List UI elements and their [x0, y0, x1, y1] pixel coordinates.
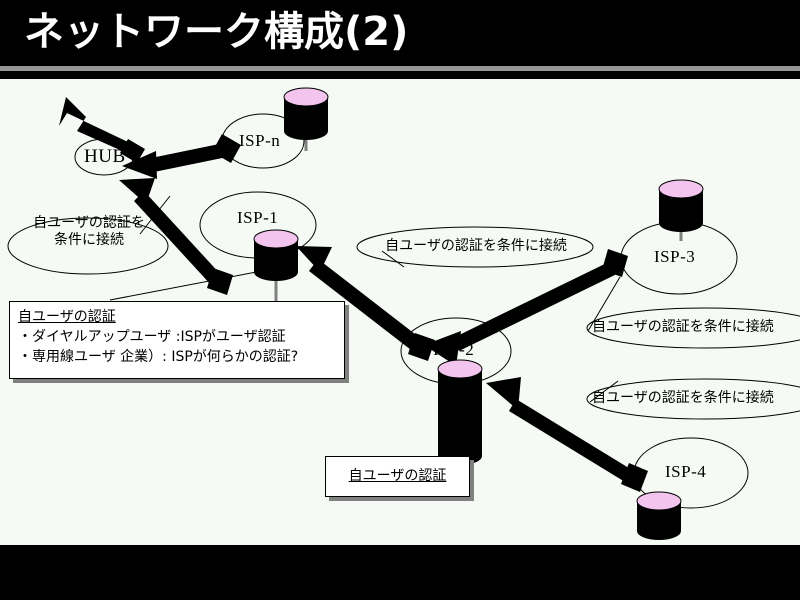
callout-left-line1: 自ユーザの認証を	[33, 215, 145, 231]
auth-simple-box-content: 自ユーザの認証	[326, 457, 469, 492]
bottom-band	[0, 545, 800, 600]
auth-detail-box-content: 自ユーザの認証 ・ダイヤルアップユーザ :ISPがユーザ認証 ・専用線ユーザ 企…	[10, 302, 344, 373]
callout-middle-text: 自ユーザの認証を条件に接続	[364, 238, 588, 255]
auth-detail-box: 自ユーザの認証 ・ダイヤルアップユーザ :ISPがユーザ認証 ・専用線ユーザ 企…	[9, 301, 345, 379]
callout-right-lower-text: 自ユーザの認証を条件に接続	[592, 390, 800, 407]
auth-detail-box-title: 自ユーザの認証	[18, 307, 336, 327]
slide: ネットワーク構成(2)	[0, 0, 800, 600]
node-label-isp2: ISP-2	[433, 340, 474, 360]
node-label-ispn: ISP-n	[239, 131, 280, 151]
node-label-hub: HUB	[84, 146, 126, 168]
page-title: ネットワーク構成(2)	[24, 6, 408, 58]
node-label-isp4: ISP-4	[665, 462, 706, 482]
server-ispn	[284, 88, 328, 151]
auth-detail-box-line-2: ・専用線ユーザ 企業）: ISPが何らかの認証?	[18, 347, 336, 367]
auth-simple-box-title: 自ユーザの認証	[334, 466, 461, 486]
leader-anno-detail	[110, 269, 272, 300]
auth-detail-box-line-1: ・ダイヤルアップユーザ :ISPがユーザ認証	[18, 327, 336, 347]
callout-left-line2: 条件に接続	[54, 232, 124, 248]
auth-simple-box: 自ユーザの認証	[325, 456, 470, 497]
node-label-isp3: ISP-3	[654, 247, 695, 267]
server-isp4	[637, 492, 681, 540]
node-label-isp1: ISP-1	[237, 208, 278, 228]
title-rule-black	[0, 71, 800, 79]
server-isp3	[659, 180, 703, 241]
callout-left-text: 自ユーザの認証を 条件に接続	[14, 215, 164, 249]
callout-right-upper-text: 自ユーザの認証を条件に接続	[592, 319, 800, 336]
connector-arrows	[59, 97, 648, 492]
server-isp1	[254, 230, 298, 307]
